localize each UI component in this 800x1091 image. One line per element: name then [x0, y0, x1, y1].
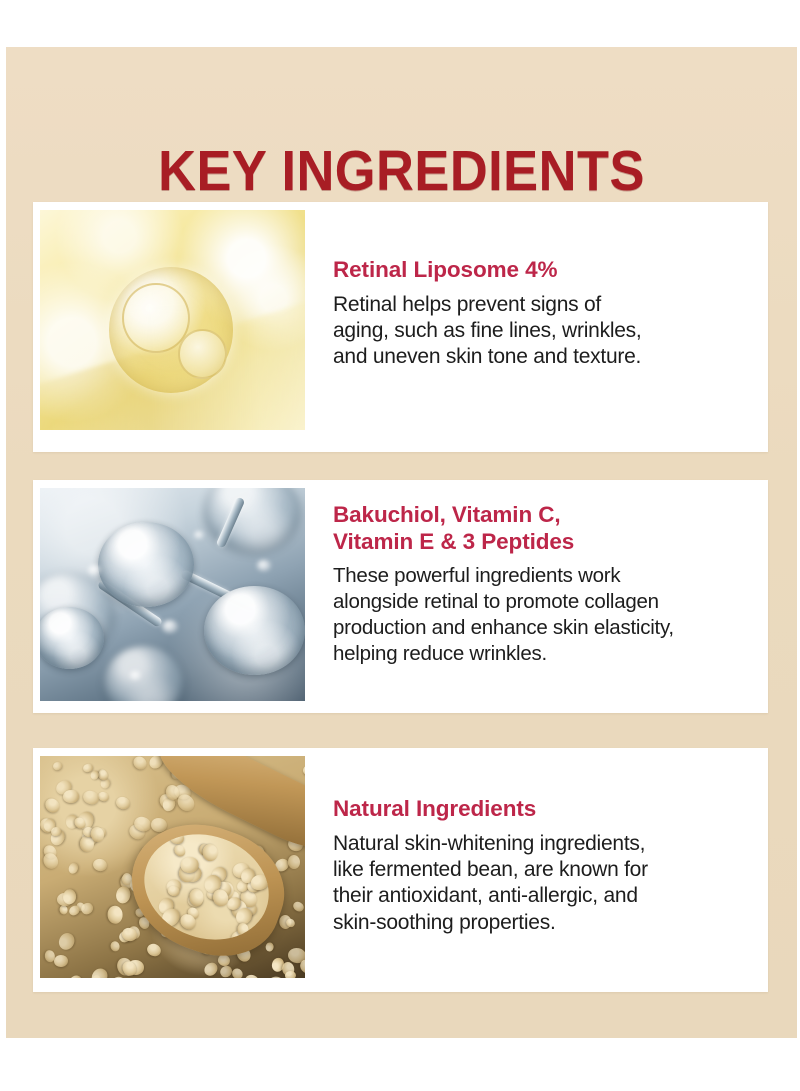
soybean — [89, 965, 111, 978]
soybean — [237, 922, 249, 936]
atom-icon — [98, 522, 193, 607]
soybean — [67, 973, 84, 978]
soybean — [81, 789, 100, 807]
soybean — [244, 973, 261, 978]
soybean — [56, 931, 77, 953]
card-body: Bakuchiol, Vitamin C, Vitamin E & 3 Pept… — [305, 480, 775, 666]
soybean — [43, 949, 55, 962]
liposome-small-bubble — [178, 329, 227, 379]
atom-icon — [204, 586, 305, 675]
golden-liposome-art — [40, 210, 305, 430]
soybeans-photo — [40, 756, 305, 978]
soybean — [302, 764, 305, 777]
card-description: These powerful ingredients work alongsid… — [333, 563, 775, 666]
golden-liposome-photo — [40, 210, 305, 430]
soybean — [292, 900, 305, 913]
atom-icon — [104, 646, 184, 701]
soybean — [43, 795, 63, 815]
soybean — [173, 843, 188, 858]
soybean — [62, 888, 77, 905]
ingredient-card: Retinal Liposome 4% Retinal helps preven… — [33, 202, 768, 452]
ingredient-card: Natural Ingredients Natural skin-whiteni… — [33, 748, 768, 992]
soybean — [265, 942, 274, 952]
soybean — [230, 966, 245, 978]
soybean — [67, 862, 79, 875]
card-body: Retinal Liposome 4% Retinal helps preven… — [305, 202, 768, 371]
soybean — [114, 795, 131, 811]
ingredients-panel: KEY INGREDIENTS Retinal Liposome 4% Reti… — [6, 47, 797, 1038]
atom-icon — [40, 607, 104, 669]
soybean — [131, 756, 149, 773]
soybean — [97, 790, 110, 802]
soybean — [285, 971, 296, 978]
card-description: Retinal helps prevent signs of aging, su… — [333, 292, 763, 371]
soybean — [106, 906, 122, 925]
soybean — [52, 761, 63, 772]
molecule-photo — [40, 488, 305, 701]
card-heading: Bakuchiol, Vitamin C, Vitamin E & 3 Pept… — [333, 502, 775, 555]
soybean — [288, 854, 301, 869]
card-heading: Retinal Liposome 4% — [333, 257, 768, 284]
soybean — [53, 954, 68, 967]
soybean — [189, 888, 205, 906]
soybean — [115, 886, 132, 905]
page-title: KEY INGREDIENTS — [158, 143, 645, 200]
molecule-art — [40, 488, 305, 701]
card-body: Natural Ingredients Natural skin-whiteni… — [305, 748, 768, 936]
soybean — [92, 857, 108, 872]
soybean — [110, 940, 121, 952]
soybeans-art — [40, 756, 305, 978]
soybean — [202, 843, 219, 862]
soybean — [63, 789, 80, 804]
ingredient-card: Bakuchiol, Vitamin C, Vitamin E & 3 Pept… — [33, 480, 768, 713]
card-description: Natural skin-whitening ingredients, like… — [333, 831, 767, 937]
soybean — [146, 942, 164, 959]
card-heading: Natural Ingredients — [333, 796, 768, 823]
